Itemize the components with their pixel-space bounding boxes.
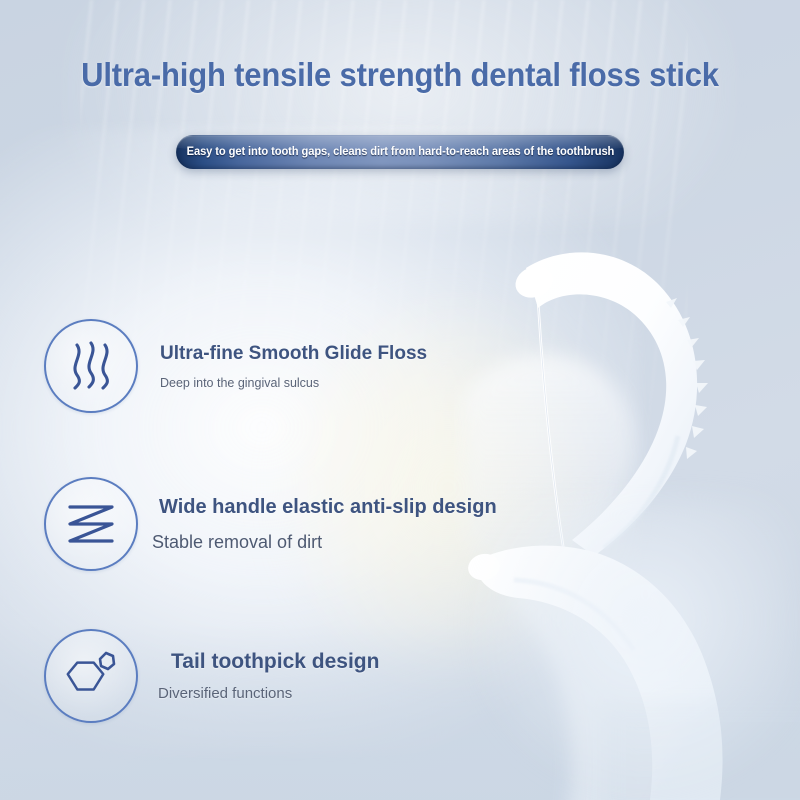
feature-text-toothpick: Tail toothpick design Diversified functi…	[138, 650, 379, 702]
wavy-floss-lines-icon	[44, 319, 138, 413]
feature-title: Tail toothpick design	[158, 650, 379, 674]
feature-subtitle: Diversified functions	[158, 685, 379, 702]
hexagons-icon	[44, 629, 138, 723]
product-poster: Ultra-high tensile strength dental floss…	[0, 0, 800, 800]
feature-item-floss: Ultra-fine Smooth Glide Floss Deep into …	[44, 318, 514, 414]
feature-text-floss: Ultra-fine Smooth Glide Floss Deep into …	[138, 343, 427, 390]
page-title: Ultra-high tensile strength dental floss…	[24, 56, 776, 94]
feature-list: Ultra-fine Smooth Glide Floss Deep into …	[44, 318, 514, 786]
subtitle-banner: Easy to get into tooth gaps, cleans dirt…	[176, 135, 624, 169]
zigzag-spring-icon	[44, 477, 138, 571]
feature-item-handle: Wide handle elastic anti-slip design Sta…	[44, 476, 514, 572]
feature-title: Wide handle elastic anti-slip design	[152, 496, 497, 519]
feature-text-handle: Wide handle elastic anti-slip design Sta…	[138, 496, 497, 553]
feature-subtitle: Deep into the gingival sulcus	[160, 376, 427, 390]
feature-title: Ultra-fine Smooth Glide Floss	[160, 343, 427, 365]
feature-item-toothpick: Tail toothpick design Diversified functi…	[44, 628, 514, 724]
feature-subtitle: Stable removal of dirt	[152, 532, 497, 553]
subtitle-banner-text: Easy to get into tooth gaps, cleans dirt…	[186, 146, 614, 158]
